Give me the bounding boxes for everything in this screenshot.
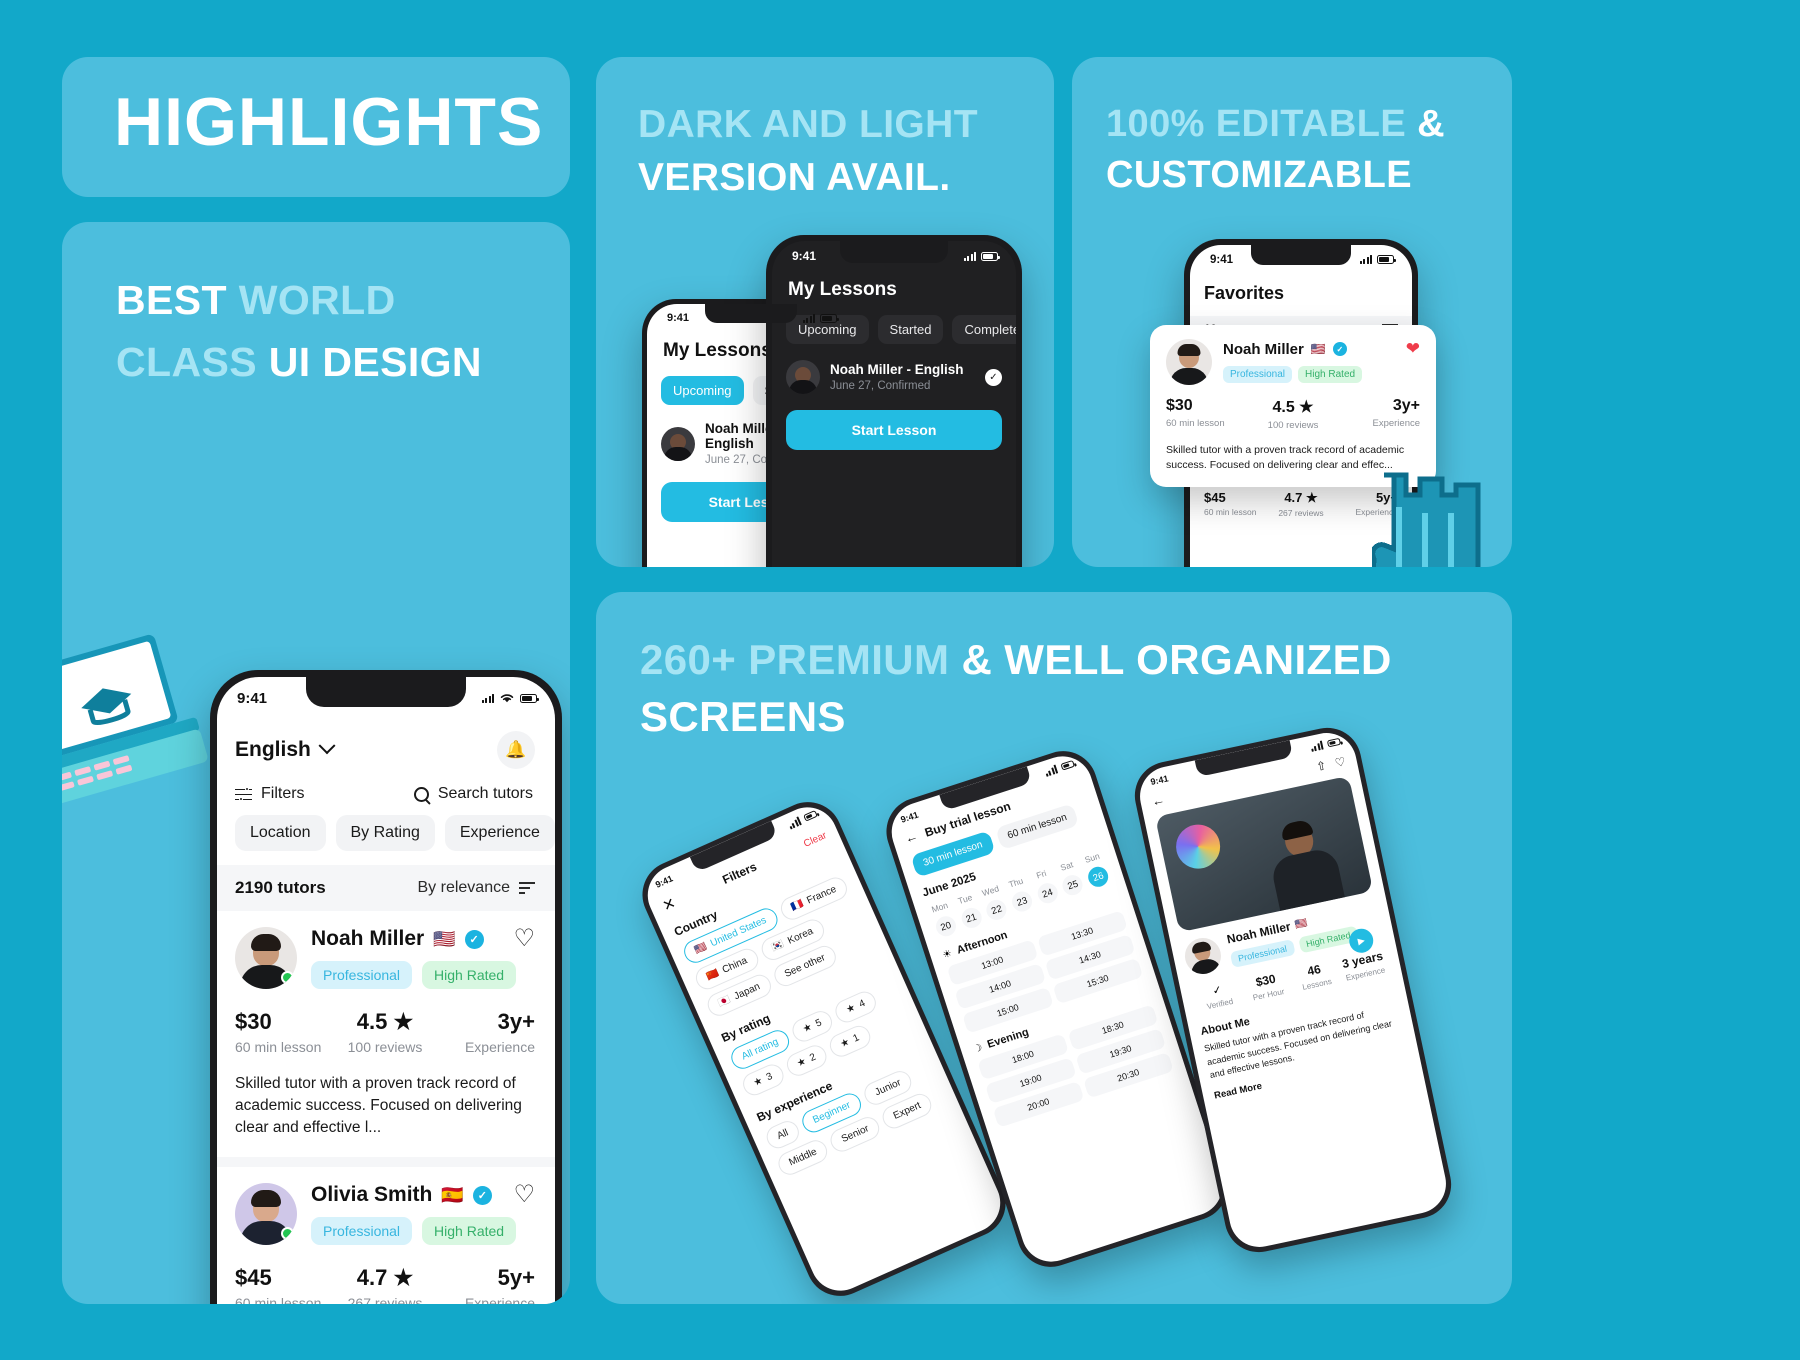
search-label: Search tutors	[438, 785, 533, 803]
status-bar: 9:41	[647, 304, 855, 328]
badge-professional: Professional	[311, 1217, 412, 1245]
status-time: 9:41	[1210, 254, 1233, 266]
badge-high-rated: High Rated	[422, 961, 516, 989]
status-bar: 9:41	[217, 677, 555, 711]
stat-price: $4560 min lesson	[235, 1265, 335, 1304]
dow-fri: Fri	[1028, 866, 1054, 883]
status-bar: 9:41	[772, 241, 1016, 267]
filter-search-row: Filters Search tutors	[217, 779, 555, 813]
stat-experience: 3y+Experience	[1335, 397, 1420, 431]
best-line1-a: BEST	[116, 277, 239, 323]
moon-icon: ☽	[972, 1042, 984, 1055]
status-time: 9:41	[654, 873, 675, 889]
cellular-icon	[1310, 741, 1324, 752]
avatar	[786, 360, 820, 394]
sort-button[interactable]: By relevance	[418, 879, 536, 897]
lessons-phone-dark: 9:41 My Lessons Upcoming Started Complet…	[766, 235, 1022, 567]
dow-tue: Tue	[952, 891, 978, 908]
cellular-icon	[964, 252, 977, 261]
price-label: 60 min lesson	[235, 1039, 335, 1055]
cellular-icon	[1043, 765, 1058, 777]
clear-button[interactable]: Clear	[802, 830, 828, 850]
confirmed-check-icon: ✓	[985, 369, 1002, 386]
screens-title: 260+ PREMIUM & WELL ORGANIZED SCREENS	[640, 632, 1490, 745]
rating-value: 4.7 ★	[335, 1265, 435, 1291]
search-tutors-button[interactable]: Search tutors	[414, 785, 533, 803]
filters-title: Filters	[720, 859, 759, 886]
avatar	[1182, 935, 1225, 978]
status-time: 9:41	[792, 249, 816, 263]
floating-tutor-card[interactable]: Noah Miller 🇺🇸 ✓ ❤ Professional High Rat…	[1150, 325, 1436, 487]
country-flag-icon: 🇺🇸	[433, 930, 455, 948]
dow-mon: Mon	[927, 899, 953, 916]
best-line1-b: WORLD	[239, 277, 396, 323]
price-label: 60 min lesson	[235, 1295, 335, 1304]
screens-line2: SCREENS	[640, 693, 846, 740]
stat-price: $4560 min lesson	[1204, 490, 1269, 518]
status-time: 9:41	[237, 690, 267, 707]
stat-rating: 4.7 ★267 reviews	[335, 1265, 435, 1304]
lesson-meta: June 27, Confirmed	[830, 380, 964, 392]
country-flag-icon: 🇪🇸	[441, 1186, 463, 1204]
tutor-name-row: Noah Miller 🇺🇸 ✓ ♡	[311, 927, 535, 951]
rating-option-2[interactable]: ★ 2	[783, 1042, 830, 1080]
battery-icon	[1377, 255, 1394, 264]
cellular-icon	[482, 694, 495, 703]
sliders-icon	[235, 788, 252, 801]
badge-high-rated: High Rated	[1298, 366, 1362, 383]
tutor-card[interactable]: Noah Miller 🇺🇸 ✓ ♡ Professional High Rat…	[217, 911, 555, 1157]
tutor-name: Noah Miller	[311, 927, 424, 951]
experience-value: 5y+	[435, 1265, 535, 1291]
calendar-day-selected[interactable]: 26	[1086, 864, 1111, 889]
rating-option-1[interactable]: ★ 1	[826, 1022, 873, 1060]
avatar	[235, 1183, 297, 1245]
tab-started[interactable]: Started	[878, 315, 944, 344]
editable-line2: CUSTOMIZABLE	[1106, 154, 1412, 196]
editable-line1-a: 100% EDITABLE	[1106, 103, 1406, 145]
panel-dark-light: DARK AND LIGHT VERSION AVAIL. 9:41 My Le…	[596, 57, 1054, 567]
stat-rating: 4.7 ★267 reviews	[1269, 490, 1334, 518]
wifi-icon	[499, 692, 515, 704]
battery-icon	[520, 694, 537, 703]
search-icon	[414, 787, 429, 802]
language-selector[interactable]: English	[235, 738, 333, 762]
best-title: BEST WORLD CLASS UI DESIGN	[116, 270, 546, 393]
sun-icon: ☀	[941, 948, 953, 961]
battery-icon	[803, 810, 818, 822]
verified-badge-icon: ✓	[465, 930, 484, 949]
status-time: 9:41	[899, 809, 919, 824]
status-bar: 9:41	[1190, 245, 1412, 270]
calendar-day[interactable]: 21	[959, 905, 984, 930]
chip-location[interactable]: Location	[235, 815, 326, 851]
panel-highlights: HIGHLIGHTS	[62, 57, 570, 197]
best-line2-a: CLASS	[116, 339, 269, 385]
poster-stage: HIGHLIGHTS BEST WORLD CLASS UI DESIGN	[0, 0, 1800, 1360]
badge-professional: Professional	[311, 961, 412, 989]
tutor-description: Skilled tutor with a proven track record…	[235, 1073, 535, 1139]
favorite-heart-icon[interactable]: ♡	[513, 927, 535, 951]
rating-value: 4.5 ★	[335, 1009, 435, 1035]
favorites-title: Favorites	[1190, 275, 1412, 304]
status-time: 9:41	[667, 312, 689, 324]
lesson-row[interactable]: Noah Miller - English June 27, Confirmed…	[772, 344, 1016, 394]
chip-by-rating[interactable]: By Rating	[336, 815, 435, 851]
dark-light-title: DARK AND LIGHT VERSION AVAIL.	[638, 99, 1038, 204]
calendar-day[interactable]: 23	[1009, 889, 1034, 914]
screens-line1-a: 260+ PREMIUM	[640, 636, 949, 683]
status-time: 9:41	[1150, 773, 1170, 787]
lesson-title: Noah Miller - English	[830, 362, 964, 377]
close-icon[interactable]: ✕	[660, 894, 679, 916]
chip-experience[interactable]: Experience	[445, 815, 555, 851]
lessons-title: My Lessons	[772, 273, 1016, 301]
verified-badge-icon: ✓	[473, 1186, 492, 1205]
sort-label: By relevance	[418, 879, 511, 897]
divider	[217, 1157, 555, 1167]
hero-screen: 9:41 English 🔔	[217, 677, 555, 1304]
stat-experience: 3 years Experience	[1337, 948, 1391, 984]
cellular-icon	[1360, 255, 1373, 264]
start-lesson-button[interactable]: Start Lesson	[786, 410, 1002, 450]
favorite-heart-icon[interactable]: ❤	[1406, 339, 1420, 359]
country-flag-icon: 🇺🇸	[1294, 917, 1308, 930]
editable-title: 100% EDITABLE & CUSTOMIZABLE	[1106, 99, 1506, 202]
country-flag-icon: 🇺🇸	[1311, 342, 1326, 356]
tutor-name-row: Noah Miller 🇺🇸 ✓ ❤	[1223, 339, 1420, 359]
dow-wed: Wed	[978, 882, 1004, 899]
tutor-card[interactable]: Olivia Smith 🇪🇸 ✓ ♡ Professional High Ra…	[217, 1167, 555, 1304]
avatar	[661, 427, 695, 461]
online-indicator	[281, 971, 294, 984]
calendar-day[interactable]: 20	[933, 914, 958, 939]
filters-button[interactable]: Filters	[235, 785, 305, 803]
stat-rating: 4.5 ★100 reviews	[335, 1009, 435, 1055]
badge-professional: Professional	[1223, 366, 1292, 383]
stat-rating: 4.5 ★100 reviews	[1251, 397, 1336, 431]
rating-label: 100 reviews	[335, 1039, 435, 1055]
highlights-title: HIGHLIGHTS	[114, 87, 543, 158]
best-line2-b: UI DESIGN	[269, 339, 482, 385]
dark-light-line2: VERSION AVAIL.	[638, 156, 951, 199]
globe-icon	[1172, 821, 1224, 873]
filters-label: Filters	[261, 785, 305, 803]
dow-thu: Thu	[1003, 874, 1029, 891]
panel-editable: 100% EDITABLE & CUSTOMIZABLE 9:41 Favori…	[1072, 57, 1512, 567]
screens-line1-b: & WELL ORGANIZED	[949, 636, 1391, 683]
price-value: $45	[235, 1265, 335, 1291]
chevron-down-icon	[318, 737, 335, 754]
calendar-day[interactable]: 24	[1035, 881, 1060, 906]
panel-screens: 260+ PREMIUM & WELL ORGANIZED SCREENS 9:…	[596, 592, 1512, 1304]
stat-lessons: 46 Lessons	[1288, 958, 1342, 994]
battery-icon	[1060, 760, 1075, 771]
language-label: English	[235, 738, 311, 762]
online-indicator	[281, 1227, 294, 1240]
lessons-dark-screen: 9:41 My Lessons Upcoming Started Complet…	[772, 241, 1016, 567]
stat-price: $3060 min lesson	[1166, 397, 1251, 431]
share-icon[interactable]: ⇧	[1315, 758, 1328, 774]
arrow-left-icon[interactable]: ←	[903, 828, 920, 846]
price-value: $30	[235, 1009, 335, 1035]
tab-completed[interactable]: Completed	[952, 315, 1016, 344]
verified-badge-icon: ✓	[1333, 342, 1347, 356]
dow-sun: Sun	[1079, 849, 1105, 866]
stat-price: $3060 min lesson	[235, 1009, 335, 1055]
editable-line1-b: &	[1406, 103, 1445, 145]
avatar	[1166, 339, 1212, 385]
tutor-badges: Professional High Rated	[311, 1217, 535, 1245]
tab-upcoming[interactable]: Upcoming	[661, 376, 744, 405]
language-row: English 🔔	[217, 721, 555, 779]
stat-experience: 5y+Experience	[435, 1265, 535, 1304]
rating-label: 267 reviews	[335, 1295, 435, 1304]
tutor-stats: $4560 min lesson 4.7 ★267 reviews 5y+Exp…	[235, 1265, 535, 1304]
calendar-day[interactable]: 25	[1060, 872, 1085, 897]
tutor-name: Noah Miller	[1223, 341, 1304, 358]
cursor-pointer-icon	[1372, 467, 1512, 567]
experience-label: Experience	[435, 1295, 535, 1304]
badge-high-rated: High Rated	[422, 1217, 516, 1245]
stat-experience: 3y+Experience	[435, 1009, 535, 1055]
battery-icon	[1327, 738, 1341, 748]
dark-light-line1: DARK AND LIGHT	[638, 103, 978, 146]
tutor-name-row: Olivia Smith 🇪🇸 ✓ ♡	[311, 1183, 535, 1207]
panel-best-ui-design: BEST WORLD CLASS UI DESIGN	[62, 222, 570, 1304]
stat-verified: ✓ Verified	[1192, 979, 1246, 1014]
arrow-left-icon[interactable]: ←	[1150, 792, 1166, 809]
hero-phone-tutor-list: 9:41 English 🔔	[210, 670, 562, 1304]
heart-icon[interactable]: ♡	[1333, 754, 1346, 770]
bell-icon[interactable]: 🔔	[497, 731, 535, 769]
tutor-stats: $3060 min lesson 4.5 ★100 reviews 3y+Exp…	[235, 1009, 535, 1055]
calendar-day[interactable]: 22	[984, 897, 1009, 922]
avatar	[235, 927, 297, 989]
battery-icon	[981, 252, 998, 261]
cellular-icon	[803, 314, 816, 323]
filter-chip-row: Location By Rating Experience Gender	[217, 813, 555, 865]
results-count: 2190 tutors	[235, 878, 326, 898]
favorite-heart-icon[interactable]: ♡	[513, 1183, 535, 1207]
results-bar: 2190 tutors By relevance	[217, 865, 555, 911]
battery-icon	[820, 314, 837, 323]
stat-price: $30 Per Hour	[1240, 968, 1294, 1004]
cellular-icon	[787, 816, 802, 829]
tutor-photo	[1259, 812, 1347, 911]
tutor-name: Olivia Smith	[311, 1183, 432, 1207]
experience-value: 3y+	[435, 1009, 535, 1035]
tutor-badges: Professional High Rated	[311, 961, 535, 989]
dow-sat: Sat	[1054, 858, 1080, 875]
experience-label: Experience	[435, 1039, 535, 1055]
sort-icon	[519, 882, 535, 894]
